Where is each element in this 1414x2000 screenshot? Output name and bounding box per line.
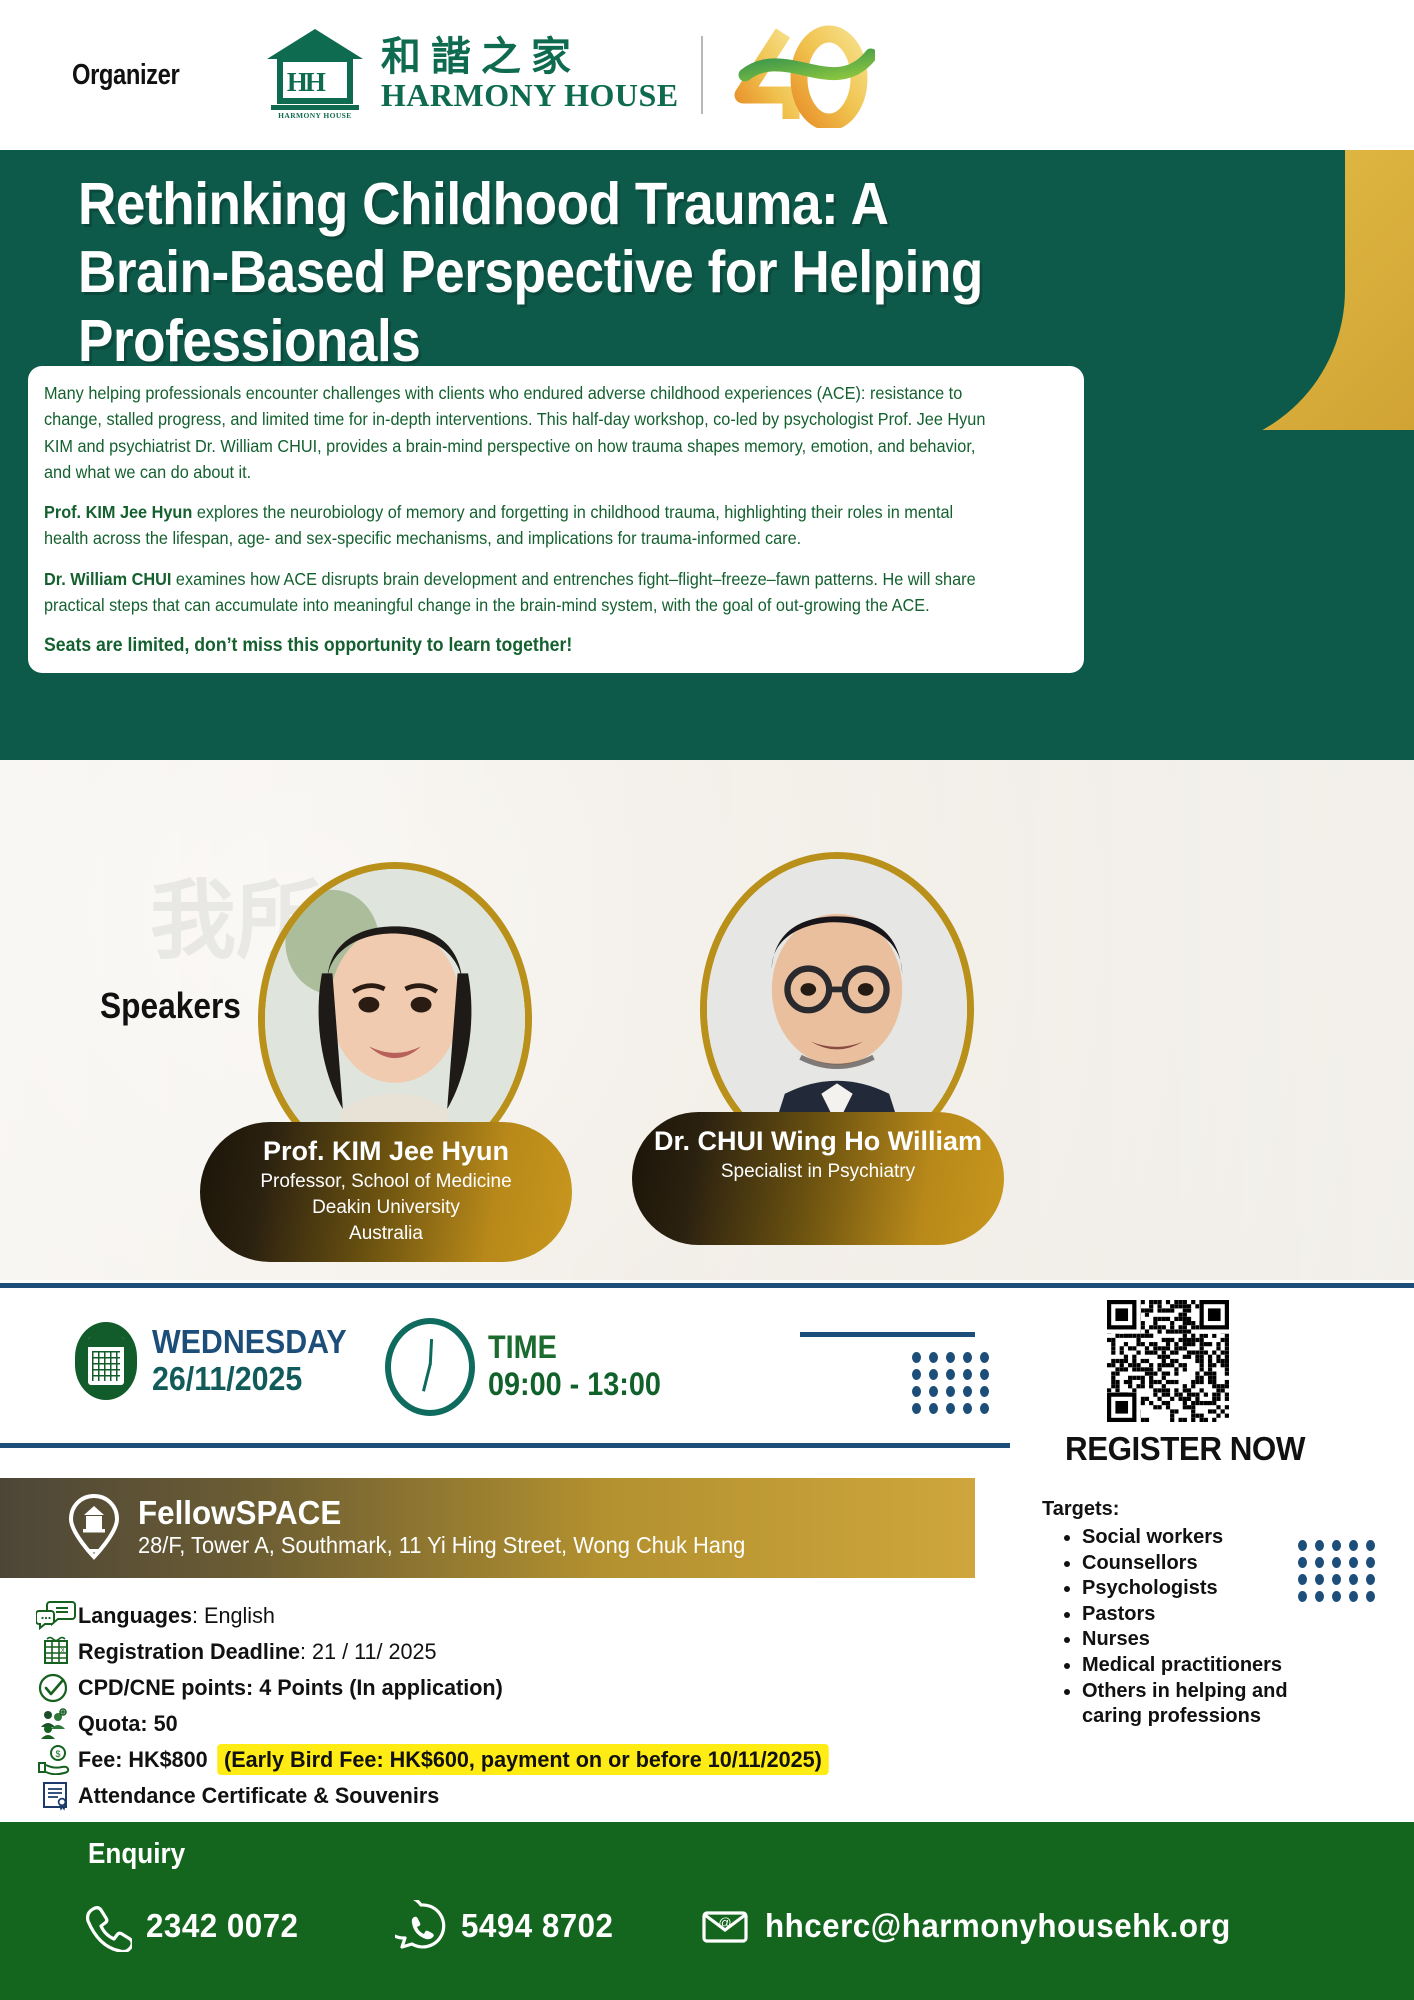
venue-name: FellowSPACE: [138, 1495, 745, 1531]
speaker-name: Prof. KIM Jee Hyun: [200, 1122, 572, 1167]
target-item: Pastors: [1082, 1602, 1332, 1628]
detail-label: Quota: 50: [78, 1711, 178, 1736]
early-bird-badge: (Early Bird Fee: HK$600, payment on or b…: [217, 1744, 828, 1775]
speaker-role-line: Professor, School of Medicine: [200, 1167, 572, 1193]
details-list: Languages: EnglishxRegistration Deadline…: [34, 1598, 1014, 1814]
people-group-icon: [34, 1707, 78, 1741]
date-block: WEDNESDAY 26/11/2025: [75, 1322, 364, 1400]
detail-value: English: [204, 1603, 275, 1628]
whatsapp-number: 5494 8702: [461, 1907, 613, 1945]
poster-root: Organizer 1985 HH HARMONY HOUSE 和諧之家 HAR…: [0, 0, 1414, 2000]
detail-text: Attendance Certificate & Souvenirs: [78, 1783, 439, 1809]
dot-grid-decoration: [912, 1352, 992, 1415]
calendar-icon: [75, 1322, 137, 1400]
logo-year: 1985: [297, 47, 315, 57]
speaker-role-line: Specialist in Psychiatry: [632, 1157, 1004, 1183]
phone-number: 2342 0072: [146, 1907, 298, 1945]
target-item: Psychologists: [1082, 1576, 1332, 1602]
anniversary-40-icon: [725, 23, 875, 128]
enquiry-label: Enquiry: [88, 1838, 185, 1871]
clock-icon: [385, 1318, 475, 1416]
detail-label: Attendance Certificate & Souvenirs: [78, 1783, 439, 1808]
time-label: TIME: [488, 1331, 661, 1365]
time-block: TIME 09:00 - 13:00: [385, 1318, 680, 1416]
detail-text: Languages: English: [78, 1603, 275, 1629]
detail-text: Quota: 50: [78, 1711, 178, 1737]
email-address: hhcerc@harmonyhousehk.org: [765, 1907, 1231, 1945]
detail-row: Attendance Certificate & Souvenirs: [34, 1778, 1014, 1814]
speech-bubbles-icon: [34, 1599, 78, 1633]
location-pin-icon: [66, 1493, 122, 1563]
target-item: Social workers: [1082, 1525, 1332, 1551]
logo-english-name: HARMONY HOUSE: [381, 77, 679, 114]
svg-text:@: @: [718, 1915, 731, 1930]
detail-value: 21 / 11/ 2025: [312, 1639, 437, 1664]
closing-line: Seats are limited, don’t miss this oppor…: [44, 632, 996, 661]
paragraph-kim: Prof. KIM Jee Hyun explores the neurobio…: [44, 499, 996, 552]
detail-text: Fee: HK$800(Early Bird Fee: HK$600, paym…: [78, 1747, 829, 1773]
detail-row: CPD/CNE points: 4 Points (In application…: [34, 1670, 1014, 1706]
phone-contact[interactable]: 2342 0072: [80, 1900, 307, 1952]
paragraph-intro: Many helping professionals encounter cha…: [44, 380, 996, 485]
divider-top: [0, 1283, 1414, 1288]
detail-row: xRegistration Deadline: 21 / 11/ 2025: [34, 1634, 1014, 1670]
divider-register: [800, 1332, 975, 1337]
organizer-label: Organizer: [72, 59, 179, 92]
logo-mark-sub: HARMONY HOUSE: [267, 111, 363, 120]
harmony-house-mark-icon: 1985 HH HARMONY HOUSE: [261, 25, 369, 125]
certificate-icon: [34, 1779, 78, 1813]
whatsapp-icon: [395, 1900, 447, 1952]
detail-label: Registration Deadline: [78, 1639, 300, 1664]
speaker-name: Dr. CHUI Wing Ho William: [632, 1112, 1004, 1157]
targets-list: Social workersCounsellorsPsychologistsPa…: [1042, 1525, 1332, 1730]
target-item: Others in helping and caring professions: [1082, 1679, 1332, 1730]
detail-row: $Fee: HK$800(Early Bird Fee: HK$600, pay…: [34, 1742, 1014, 1778]
paragraph-chui: Dr. William CHUI examines how ACE disrup…: [44, 566, 996, 619]
speaker-lead-kim: Prof. KIM Jee Hyun: [44, 502, 192, 522]
register-now-heading: REGISTER NOW: [1047, 1430, 1323, 1468]
check-badge-icon: [34, 1671, 78, 1705]
speaker-role-line: Australia: [200, 1219, 572, 1245]
targets-title: Targets:: [1042, 1498, 1332, 1521]
date-label: WEDNESDAY: [152, 1324, 347, 1360]
speaker-role-line: Deakin University: [200, 1193, 572, 1219]
detail-row: Quota: 50: [34, 1706, 1014, 1742]
target-item: Counsellors: [1082, 1551, 1332, 1577]
registration-qr-code[interactable]: [1107, 1300, 1229, 1422]
divider-bottom: [0, 1443, 1010, 1448]
speaker-plate: Prof. KIM Jee Hyun Professor, School of …: [200, 1122, 572, 1262]
detail-separator: :: [300, 1639, 312, 1664]
speakers-label: Speakers: [100, 985, 241, 1027]
calendar-deadline-icon: x: [34, 1635, 78, 1669]
logo-chinese-name: 和諧之家: [381, 37, 679, 77]
page-title: Rethinking Childhood Trauma: A Brain-Bas…: [78, 170, 1032, 375]
phone-icon: [80, 1900, 132, 1952]
detail-separator: :: [192, 1603, 204, 1628]
detail-text: CPD/CNE points: 4 Points (In application…: [78, 1675, 503, 1701]
svg-text:x: x: [61, 1647, 65, 1654]
header: Organizer 1985 HH HARMONY HOUSE 和諧之家 HAR…: [0, 0, 1414, 150]
logo-monogram: HH: [287, 67, 343, 95]
contacts-row: 2342 0072 5494 8702 @ hhcerc@harmonyhous: [80, 1900, 1380, 1952]
speaker-plate: Dr. CHUI Wing Ho William Specialist in P…: [632, 1112, 1004, 1245]
logo-divider: [701, 36, 703, 114]
speaker-lead-chui: Dr. William CHUI: [44, 569, 171, 589]
detail-label: CPD/CNE points: 4 Points (In application…: [78, 1675, 503, 1700]
description-card: Many helping professionals encounter cha…: [28, 366, 1084, 673]
target-item: Medical practitioners: [1082, 1653, 1332, 1679]
venue-banner: FellowSPACE 28/F, Tower A, Southmark, 11…: [0, 1478, 975, 1578]
hand-money-icon: $: [34, 1743, 78, 1777]
targets-block: Targets: Social workersCounsellorsPsycho…: [1042, 1498, 1332, 1730]
detail-label: Languages: [78, 1603, 192, 1628]
date-value: 26/11/2025: [152, 1360, 347, 1398]
email-icon: @: [699, 1900, 751, 1952]
venue-address: 28/F, Tower A, Southmark, 11 Yi Hing Str…: [138, 1531, 745, 1561]
time-value: 09:00 - 13:00: [488, 1365, 661, 1403]
detail-row: Languages: English: [34, 1598, 1014, 1634]
whatsapp-contact[interactable]: 5494 8702: [395, 1900, 622, 1952]
detail-label: Fee: HK$800: [78, 1747, 208, 1772]
target-item: Nurses: [1082, 1627, 1332, 1653]
svg-text:$: $: [55, 1749, 60, 1759]
harmony-house-logo: 1985 HH HARMONY HOUSE 和諧之家 HARMONY HOUSE: [261, 23, 875, 128]
detail-text: Registration Deadline: 21 / 11/ 2025: [78, 1639, 437, 1665]
email-contact[interactable]: @ hhcerc@harmonyhousehk.org: [699, 1900, 1255, 1952]
